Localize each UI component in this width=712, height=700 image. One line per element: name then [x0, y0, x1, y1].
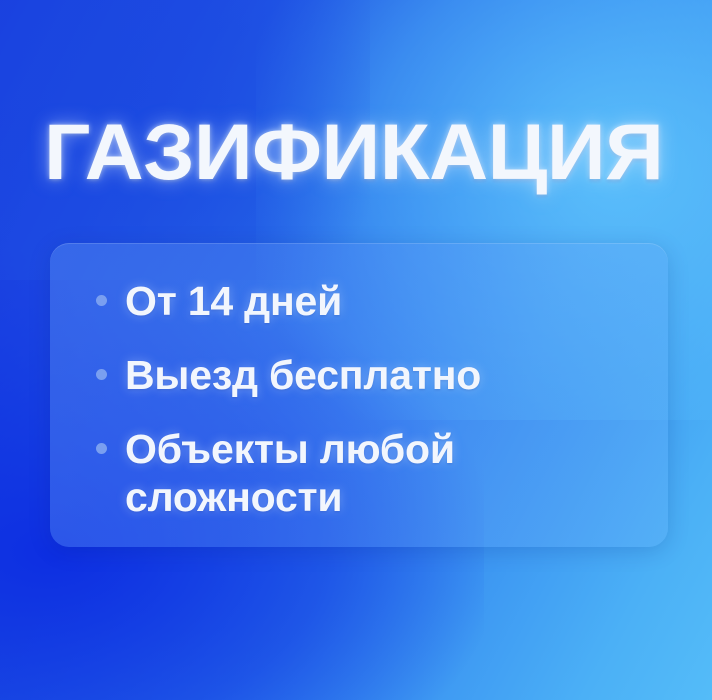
feature-label: От 14 дней	[125, 277, 342, 325]
bullet-dot-icon	[96, 443, 107, 454]
list-item: Выезд бесплатно	[50, 351, 668, 399]
list-item: Объекты любой сложности	[50, 425, 668, 521]
promo-poster: ГАЗИФИКАЦИЯ От 14 дней Выезд бесплатно О…	[0, 0, 712, 700]
feature-label: Объекты любой сложности	[125, 425, 565, 521]
bullet-dot-icon	[96, 295, 107, 306]
bullet-dot-icon	[96, 369, 107, 380]
page-title: ГАЗИФИКАЦИЯ	[44, 112, 706, 192]
list-item: От 14 дней	[50, 277, 668, 325]
feature-label: Выезд бесплатно	[125, 351, 481, 399]
features-card: От 14 дней Выезд бесплатно Объекты любой…	[50, 243, 668, 547]
features-list: От 14 дней Выезд бесплатно Объекты любой…	[50, 277, 668, 521]
